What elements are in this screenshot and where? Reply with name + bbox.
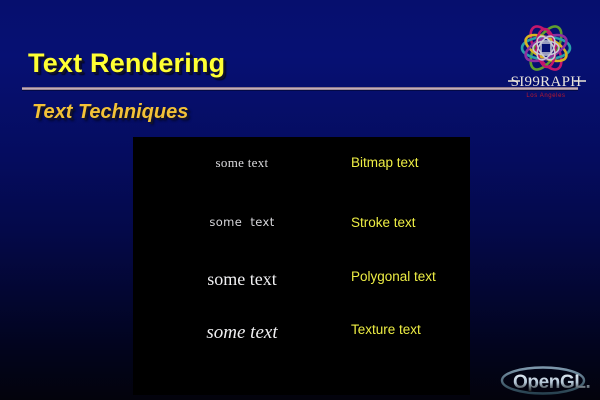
demo-row: some text Bitmap text: [133, 155, 470, 217]
text-technique-demo-panel: some text Bitmap text some text Stroke t…: [133, 137, 470, 395]
slide-canvas: Text Rendering Text Techniques SI99RA: [0, 0, 600, 400]
opengl-logo-graphic: OpenGL.: [499, 364, 595, 397]
label-bitmap-text: Bitmap text: [351, 155, 470, 170]
sample-text-polygonal: some text: [133, 269, 351, 290]
divider: [22, 87, 578, 90]
opengl-wordmark: OpenGL.: [513, 372, 590, 393]
opengl-logo: OpenGL.: [499, 364, 595, 397]
sample-text-stroke: some text: [133, 215, 351, 229]
siggraph-location: Los Angeles: [526, 93, 565, 99]
siggraph-wordmark: SI99RAPH: [511, 74, 582, 90]
sample-text-bitmap: some text: [133, 155, 351, 171]
siggraph-logo: SI99RAPH Los Angeles: [500, 10, 592, 102]
siggraph-logo-graphic: SI99RAPH Los Angeles: [500, 10, 592, 102]
sample-text-texture: some text: [133, 322, 351, 344]
slide-subtitle: Text Techniques: [32, 101, 188, 124]
label-polygonal-text: Polygonal text: [351, 269, 470, 284]
demo-row: some text Stroke text: [133, 215, 470, 277]
label-texture-text: Texture text: [351, 322, 470, 337]
label-stroke-text: Stroke text: [351, 215, 470, 230]
demo-row: some text Texture text: [133, 322, 470, 384]
page-title: Text Rendering: [28, 48, 225, 79]
